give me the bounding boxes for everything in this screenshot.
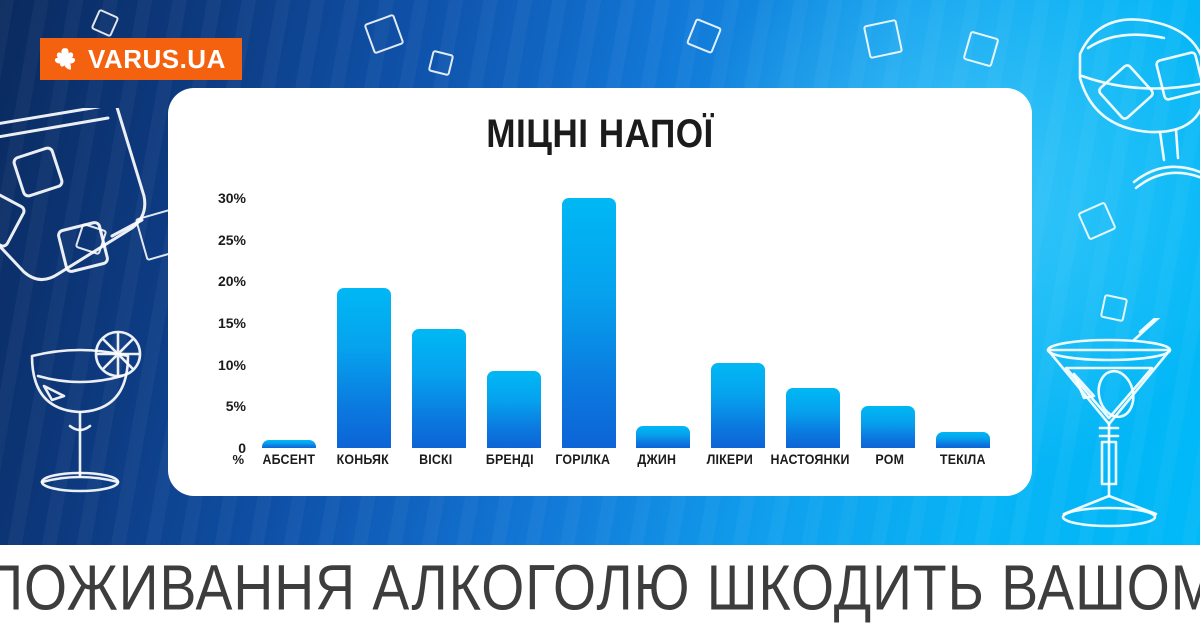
alcohol-warning-bar: НАДМІРНЕ СПОЖИВАННЯ АЛКОГОЛЮ ШКОДИТЬ ВАШ…: [0, 545, 1200, 630]
y-axis-tick: 15%: [218, 315, 246, 331]
bar-chart-plot: 30%25%20%15%10%5%0: [200, 198, 1000, 448]
bar-column: [850, 198, 925, 448]
logo-text: VARUS.UA: [88, 44, 226, 75]
y-axis-tick: 30%: [218, 190, 246, 206]
bar-column: [476, 198, 551, 448]
x-axis: % АБСЕНТКОНЬЯКВІСКІБРЕНДІГОРІЛКАДЖИНЛІКЕ…: [200, 452, 1000, 467]
x-axis-label: НАСТОЯНКИ: [770, 452, 849, 467]
y-axis-tick: 25%: [218, 232, 246, 248]
bar-column: [701, 198, 776, 448]
bar-column: [402, 198, 477, 448]
infographic-banner: VARUS.UA МІЦНІ НАПОЇ 30%25%20%15%10%5%0 …: [0, 0, 1200, 630]
bar[interactable]: [711, 363, 765, 448]
bar-column: [327, 198, 402, 448]
x-axis-label: ГОРІЛКА: [549, 452, 617, 467]
varus-logo[interactable]: VARUS.UA: [40, 38, 242, 80]
x-axis-label: ДЖИН: [623, 452, 691, 467]
bar[interactable]: [262, 440, 316, 448]
x-axis-label: КОНЬЯК: [328, 452, 396, 467]
x-axis-label: РОМ: [856, 452, 924, 467]
bar-series: [252, 198, 1000, 448]
bar-column: [551, 198, 626, 448]
x-axis-label: БРЕНДІ: [476, 452, 544, 467]
alcohol-warning-text: НАДМІРНЕ СПОЖИВАННЯ АЛКОГОЛЮ ШКОДИТЬ ВАШ…: [0, 551, 1200, 625]
x-axis-label: ЛІКЕРИ: [696, 452, 764, 467]
bar[interactable]: [412, 329, 466, 448]
bar[interactable]: [861, 406, 915, 448]
bar-column: [776, 198, 851, 448]
bar-column: [252, 198, 327, 448]
bar-column: [626, 198, 701, 448]
chart-title: МІЦНІ НАПОЇ: [220, 112, 980, 157]
chart-card: МІЦНІ НАПОЇ 30%25%20%15%10%5%0 % АБСЕНТК…: [168, 88, 1032, 496]
x-axis-label: ТЕКІЛА: [929, 452, 997, 467]
y-axis-tick: 10%: [218, 357, 246, 373]
bar[interactable]: [636, 426, 690, 449]
bar[interactable]: [487, 371, 541, 449]
bar[interactable]: [337, 288, 391, 448]
bar[interactable]: [936, 432, 990, 448]
bar-column: [925, 198, 1000, 448]
flower-leaf-icon: [53, 46, 79, 72]
y-axis: 30%25%20%15%10%5%0: [200, 198, 246, 448]
x-axis-label: ВІСКІ: [402, 452, 470, 467]
y-axis-tick: 5%: [226, 398, 246, 414]
x-axis-label: АБСЕНТ: [255, 452, 323, 467]
bar[interactable]: [562, 198, 616, 448]
y-axis-tick: 20%: [218, 273, 246, 289]
bar[interactable]: [786, 388, 840, 448]
y-axis-unit-label: %: [200, 452, 252, 467]
